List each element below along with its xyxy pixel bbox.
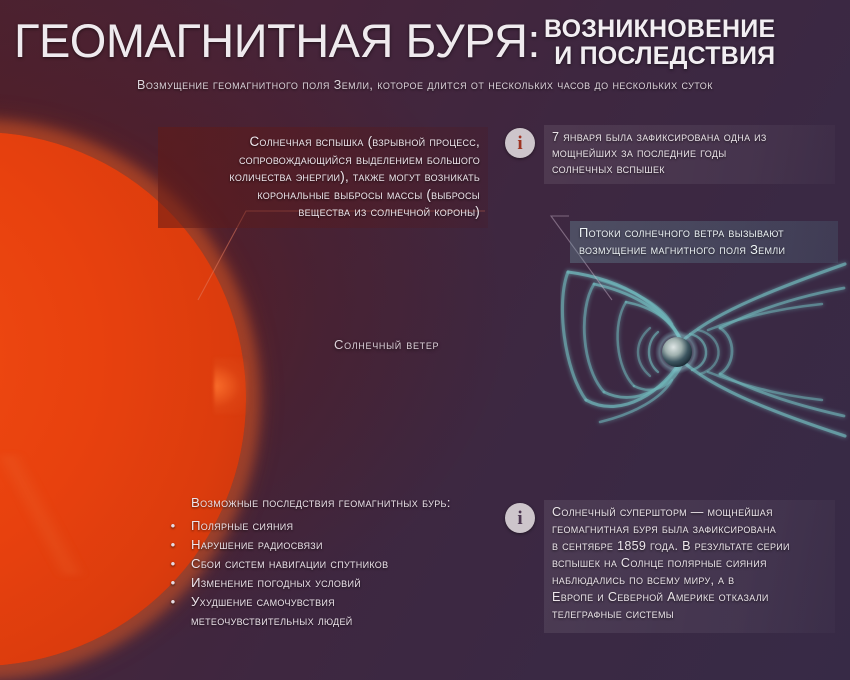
info-icon: i (505, 503, 535, 533)
list-item: • Ухудшение самочувствия (155, 593, 505, 611)
info-box-text: 7 января была зафиксирована одна из мощн… (544, 125, 835, 184)
solar-wind-line: Потоки солнечного ветра вызывают (579, 225, 830, 242)
info-line: Солнечный супершторм — мощнейшая (552, 504, 827, 521)
earth-icon (662, 337, 692, 367)
bullet-icon: • (155, 593, 191, 611)
solar-flare-line: сопровождающийся выделением большого (166, 151, 480, 169)
solar-flare-description-panel: Солнечная вспышка (взрывной процесс, соп… (158, 127, 488, 228)
list-item: • Сбои систем навигации спутников (155, 555, 505, 573)
info-line: вспышек на Солнце полярные сияния (552, 555, 827, 572)
info-line: Европе и Северной Америке отказали (552, 589, 827, 606)
list-item-label: Нарушение радиосвязи (191, 536, 505, 554)
infographic-poster: ГЕОМАГНИТНАЯ БУРЯ: ВОЗНИКНОВЕНИЕ И ПОСЛЕ… (0, 0, 850, 680)
solar-wind-line: возмущение магнитного поля Земли (579, 242, 830, 259)
consequences-list: • Полярные сияния • Нарушение радиосвязи… (155, 517, 505, 611)
info-line: наблюдались по всему миру, а в (552, 572, 827, 589)
bullet-icon: • (155, 536, 191, 554)
header: ГЕОМАГНИТНАЯ БУРЯ: ВОЗНИКНОВЕНИЕ И ПОСЛЕ… (0, 0, 850, 92)
magnetosphere-illustration (560, 250, 850, 450)
list-item: • Полярные сияния (155, 517, 505, 535)
solar-flare-icon (214, 358, 248, 414)
bullet-icon: • (155, 574, 191, 592)
page-subtitle: Возмущение геомагнитного поля Земли, кот… (0, 78, 850, 92)
consequences-title: Возможные последствия геомагнитных бурь: (191, 495, 505, 510)
solar-flare-line: Солнечная вспышка (взрывной процесс, (166, 133, 480, 151)
solar-streak-icon (0, 455, 110, 575)
solar-wind-label: Солнечный ветер (334, 337, 439, 352)
list-item-label: Сбои систем навигации спутников (191, 555, 505, 573)
info-box-january-flare: i 7 января была зафиксирована одна из мо… (505, 125, 835, 184)
solar-flare-line: корональные выбросы массы (выбросы (166, 186, 480, 204)
solar-wind-description-panel: Потоки солнечного ветра вызывают возмуще… (570, 221, 838, 263)
list-item: • Нарушение радиосвязи (155, 536, 505, 554)
bullet-icon: • (155, 555, 191, 573)
info-icon: i (505, 128, 535, 158)
info-line: 7 января была зафиксирована одна из (552, 129, 827, 145)
page-title: ГЕОМАГНИТНАЯ БУРЯ: (14, 14, 540, 67)
magnetic-field-lines (562, 264, 845, 436)
info-line: телеграфные системы (552, 606, 827, 623)
list-item-label: Изменение погодных условий (191, 574, 505, 592)
info-line: в сентябре 1859 года. В результате серии (552, 538, 827, 555)
list-item-label: Полярные сияния (191, 517, 505, 535)
solar-flare-line: вещества из солнечной короны) (166, 203, 480, 221)
title-subheading-line-1: ВОЗНИКНОВЕНИЕ (544, 16, 775, 43)
solar-flare-line: количества энергии), также могут возника… (166, 168, 480, 186)
list-item-label: Ухудшение самочувствия (191, 593, 505, 611)
bullet-icon: • (155, 517, 191, 535)
info-line: геомагнитная буря была зафиксирована (552, 521, 827, 538)
list-item-continuation: метеочувствительных людей (191, 612, 505, 630)
title-subheading-line-2: И ПОСЛЕДСТВИЯ (544, 43, 775, 70)
info-box-superstorm-1859: i Солнечный супершторм — мощнейшая геома… (505, 500, 835, 633)
list-item: • Изменение погодных условий (155, 574, 505, 592)
info-line: мощнейших за последние годы (552, 145, 827, 161)
consequences-block: Возможные последствия геомагнитных бурь:… (155, 495, 505, 630)
title-row: ГЕОМАГНИТНАЯ БУРЯ: ВОЗНИКНОВЕНИЕ И ПОСЛЕ… (0, 0, 850, 70)
title-subheading-block: ВОЗНИКНОВЕНИЕ И ПОСЛЕДСТВИЯ (544, 16, 775, 70)
info-box-text: Солнечный супершторм — мощнейшая геомагн… (544, 500, 835, 633)
info-line: солнечных вспышек (552, 161, 827, 177)
